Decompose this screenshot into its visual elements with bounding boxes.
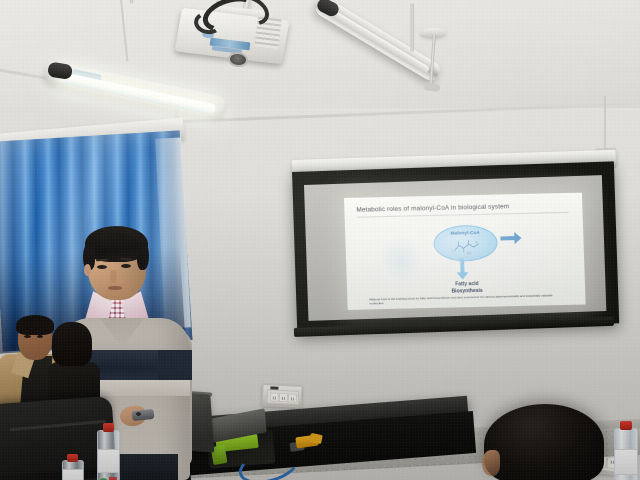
slide-arrow-down-head: [457, 272, 469, 279]
attendee-eye: [37, 335, 43, 338]
power-socket[interactable]: [288, 393, 297, 402]
bottle-cap: [620, 421, 632, 430]
slide-caption: Malonyl-CoA is the building block for fa…: [369, 293, 565, 306]
outlet-inner-plate: [267, 389, 300, 405]
light-suspension-rod: [411, 4, 414, 52]
svg-text:HO: HO: [467, 251, 471, 255]
presenter-sleeve-stripe: [158, 350, 192, 380]
slide-node-malonyl-coa: Malonyl-CoA OHO S: [433, 225, 498, 262]
bottle-label: [98, 449, 119, 473]
wall-outlet-panel[interactable]: [261, 384, 302, 408]
classroom-photo: Metabolic roles of malonyl-CoA in biolog…: [0, 0, 640, 480]
attendee-hair: [484, 404, 604, 480]
slide-node-label: Malonyl-CoA: [434, 230, 496, 236]
molecule-structure-icon: OHO S: [450, 239, 483, 256]
seated-attendee-middle[interactable]: [52, 322, 98, 402]
bottle-cap: [67, 454, 78, 462]
attendee-hair: [52, 322, 92, 366]
svg-text:S: S: [475, 240, 477, 244]
screen-mount-wire: [604, 96, 606, 150]
slide-arrow-right: [500, 236, 515, 240]
slide-arrow-down: [460, 258, 464, 273]
bottle-cap: [103, 423, 114, 432]
attendee-eye: [24, 335, 31, 338]
slide-arrow-right-head: [514, 232, 521, 244]
water-bottle[interactable]: [614, 428, 638, 480]
clicker-button[interactable]: [136, 412, 141, 416]
projected-slide[interactable]: Metabolic roles of malonyl-CoA in biolog…: [344, 193, 586, 310]
bottle-label: [63, 469, 83, 480]
water-bottle[interactable]: [62, 460, 84, 480]
foreground-attendee-head[interactable]: [484, 404, 614, 480]
presenter-face-shading: [88, 232, 146, 300]
water-bottle[interactable]: [97, 430, 120, 480]
slide-watermark: [379, 236, 423, 283]
svg-text:O: O: [452, 249, 454, 253]
attendee-ear: [482, 450, 500, 476]
attendee-hair: [16, 315, 54, 335]
ceiling-projector[interactable]: [172, 0, 292, 70]
bottle-label: [615, 449, 637, 475]
